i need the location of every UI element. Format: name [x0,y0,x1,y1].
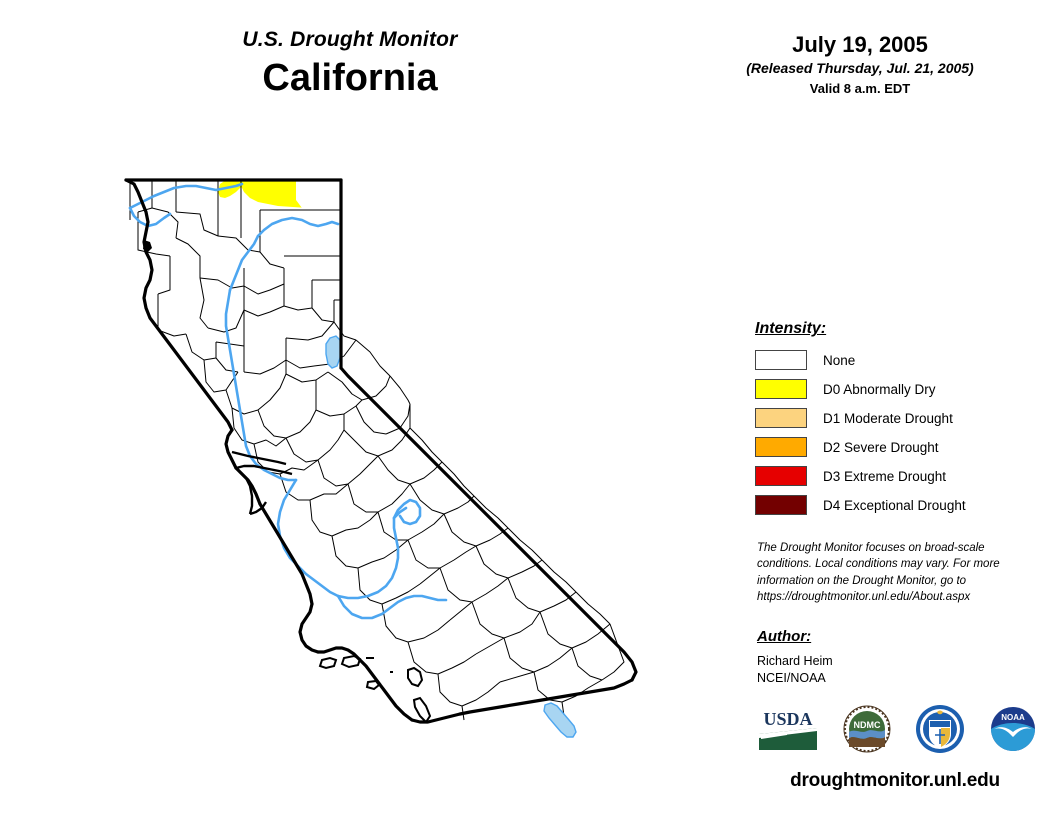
sacramento-river [226,290,296,480]
lake-tahoe [326,336,341,368]
legend-item-d4: D4 Exceptional Drought [755,493,1035,517]
legend-label-d3: D3 Extreme Drought [823,469,946,484]
date-block: July 19, 2005 (Released Thursday, Jul. 2… [700,32,1020,97]
legend-swatch-d0 [755,379,807,399]
author-affiliation: NCEI/NOAA [757,670,1019,687]
disclaimer-text: The Drought Monitor focuses on broad-sca… [757,540,1019,605]
release-date: (Released Thursday, Jul. 21, 2005) [700,60,1020,77]
legend-swatch-d4 [755,495,807,515]
author-heading: Author: [757,628,1019,645]
state-outline [126,180,636,722]
legend-label-d1: D1 Moderate Drought [823,411,953,426]
noaa-logo: NOAA [989,705,1037,758]
lakes-layer [326,336,576,737]
svg-text:NDMC: NDMC [854,720,881,730]
logo-row: USDA NDMC [757,702,1037,760]
map-date: July 19, 2005 [700,32,1020,57]
legend-swatch-none [755,350,807,370]
unl-seal-logo [915,704,965,759]
website-footer: droughtmonitor.unl.edu [745,770,1045,792]
legend-label-d4: D4 Exceptional Drought [823,498,966,513]
legend-swatch-d3 [755,466,807,486]
legend-swatch-d1 [755,408,807,428]
drought-area-d0 [241,180,341,210]
ndmc-logo: NDMC [843,705,891,758]
pit-river [258,218,338,236]
california-drought-map [108,160,656,785]
valid-time: Valid 8 a.m. EDT [700,81,1020,97]
svg-text:NOAA: NOAA [1001,713,1025,722]
author-block: Author: Richard Heim NCEI/NOAA [757,628,1019,687]
legend-label-d0: D0 Abnormally Dry [823,382,936,397]
legend: Intensity: None D0 Abnormally Dry D1 Mod… [755,320,1035,522]
legend-swatch-d2 [755,437,807,457]
legend-label-d2: D2 Severe Drought [823,440,939,455]
county-boundaries [130,179,624,720]
legend-item-none: None [755,348,1035,372]
legend-label-none: None [823,353,855,368]
channel-islands [320,656,430,722]
region-title: California [150,57,550,101]
program-title: U.S. Drought Monitor [150,28,550,51]
legend-item-d3: D3 Extreme Drought [755,464,1035,488]
drought-shading-layer [218,179,341,210]
legend-item-d2: D2 Severe Drought [755,435,1035,459]
legend-item-d1: D1 Moderate Drought [755,406,1035,430]
legend-heading: Intensity: [755,320,1035,338]
author-name: Richard Heim [757,653,1019,670]
salton-sea [544,703,576,737]
svg-text:USDA: USDA [763,709,812,729]
usda-logo: USDA [757,706,819,757]
legend-item-d0: D0 Abnormally Dry [755,377,1035,401]
title-block: U.S. Drought Monitor California [150,28,550,101]
